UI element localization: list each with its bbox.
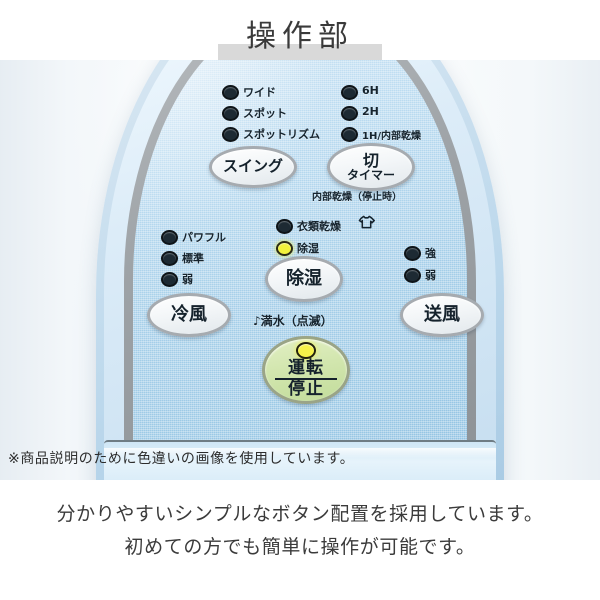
power-led	[296, 342, 316, 359]
led-label-spot-rhythm: スポットリズム	[243, 126, 320, 142]
led-label-wide: ワイド	[243, 84, 276, 100]
description-line-1: 分かりやすいシンプルなボタン配置を採用しています。	[0, 498, 600, 531]
power-button-label-line2: 停止	[288, 381, 324, 398]
led-powerful	[161, 230, 178, 245]
led-clothes-dry	[276, 219, 293, 234]
power-button-label-line1: 運転	[288, 360, 324, 377]
led-label-strong: 強	[425, 245, 436, 261]
full-water-note: ♪満水（点滅）	[253, 312, 333, 329]
led-dehumidify	[276, 241, 293, 256]
led-label-1h-internal-dry: 1H/内部乾燥	[362, 127, 421, 142]
led-weak-left	[161, 272, 178, 287]
timer-note: 内部乾燥（停止時）	[312, 188, 402, 203]
product-photo: ワイド スポット スポットリズム 6H 2H 1H/内部乾燥 スイング 切 タイ…	[0, 60, 600, 480]
description-block: 分かりやすいシンプルなボタン配置を採用しています。 初めての方でも簡単に操作が可…	[0, 498, 600, 565]
tshirt-icon	[358, 215, 375, 229]
led-label-spot: スポット	[243, 105, 287, 121]
led-wide	[222, 85, 239, 100]
led-label-dehumidify: 除湿	[297, 240, 319, 256]
timer-button-label-line1: 切	[363, 153, 379, 169]
blow-button[interactable]: 送風	[400, 293, 484, 337]
led-label-standard: 標準	[182, 250, 204, 266]
led-2h	[341, 106, 358, 121]
led-spot	[222, 106, 239, 121]
timer-off-button[interactable]: 切 タイマー	[327, 143, 415, 191]
led-1h-internal-dry	[341, 127, 358, 142]
swing-button[interactable]: スイング	[209, 146, 297, 188]
control-panel-contents: ワイド スポット スポットリズム 6H 2H 1H/内部乾燥 スイング 切 タイ…	[0, 60, 600, 480]
power-button[interactable]: 運転 停止	[262, 336, 350, 404]
led-spot-rhythm	[222, 127, 239, 142]
led-label-6h: 6H	[362, 84, 379, 97]
description-line-2: 初めての方でも簡単に操作が可能です。	[0, 531, 600, 564]
led-weak-right	[404, 268, 421, 283]
led-label-2h: 2H	[362, 105, 379, 118]
led-label-powerful: パワフル	[182, 229, 226, 245]
cool-wind-button[interactable]: 冷風	[147, 293, 231, 337]
led-6h	[341, 85, 358, 100]
page-root: 操作部 ワイド スポット スポットリズム	[0, 0, 600, 600]
disclaimer-text: ※商品説明のために色違いの画像を使用しています。	[8, 448, 354, 468]
page-title: 操作部	[0, 11, 600, 55]
led-strong	[404, 246, 421, 261]
page-header: 操作部	[0, 0, 600, 60]
led-standard	[161, 251, 178, 266]
led-label-weak-right: 弱	[425, 267, 436, 283]
timer-button-label-line2: タイマー	[347, 169, 395, 181]
led-label-clothes-dry: 衣類乾燥	[297, 218, 341, 234]
led-label-weak-left: 弱	[182, 271, 193, 287]
dehumidify-button[interactable]: 除湿	[265, 256, 343, 302]
